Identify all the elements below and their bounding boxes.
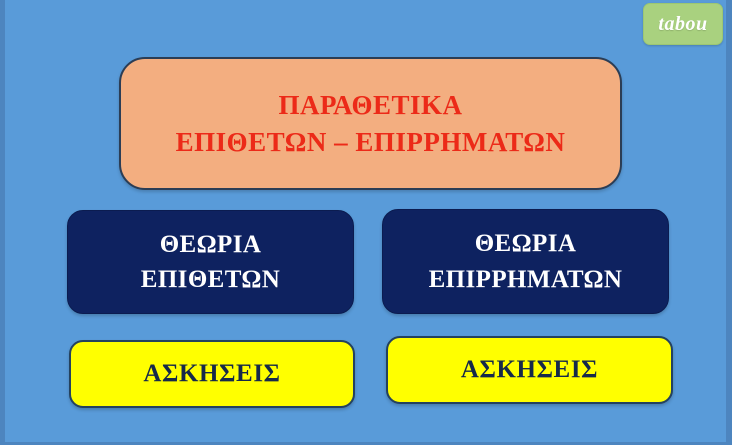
theory-adverbs-button[interactable]: ΘΕΩΡΙΑ ΕΠΙΡΡΗΜΑΤΩΝ xyxy=(382,209,669,314)
exercises-adjectives-label: ΑΣΚΗΣΕΙΣ xyxy=(143,360,280,388)
theory-adverbs-label: ΘΕΩΡΙΑ ΕΠΙΡΡΗΜΑΤΩΝ xyxy=(429,226,623,297)
title-banner-text: ΠΑΡΑΘΕΤΙΚΑ ΕΠΙΘΕΤΩΝ – ΕΠΙΡΡΗΜΑΤΩΝ xyxy=(176,87,566,160)
theory-adjectives-label: ΘΕΩΡΙΑ ΕΠΙΘΕΤΩΝ xyxy=(141,227,280,298)
theory-adjectives-button[interactable]: ΘΕΩΡΙΑ ΕΠΙΘΕΤΩΝ xyxy=(67,210,354,314)
tabou-logo-text: tabou xyxy=(658,13,707,36)
exercises-adverbs-button[interactable]: ΑΣΚΗΣΕΙΣ xyxy=(386,336,673,404)
slide-canvas: tabou ΠΑΡΑΘΕΤΙΚΑ ΕΠΙΘΕΤΩΝ – ΕΠΙΡΡΗΜΑΤΩΝ … xyxy=(0,0,732,445)
exercises-adjectives-button[interactable]: ΑΣΚΗΣΕΙΣ xyxy=(69,340,355,408)
tabou-logo[interactable]: tabou xyxy=(643,3,723,45)
title-banner: ΠΑΡΑΘΕΤΙΚΑ ΕΠΙΘΕΤΩΝ – ΕΠΙΡΡΗΜΑΤΩΝ xyxy=(119,57,622,190)
exercises-adverbs-label: ΑΣΚΗΣΕΙΣ xyxy=(461,356,598,384)
